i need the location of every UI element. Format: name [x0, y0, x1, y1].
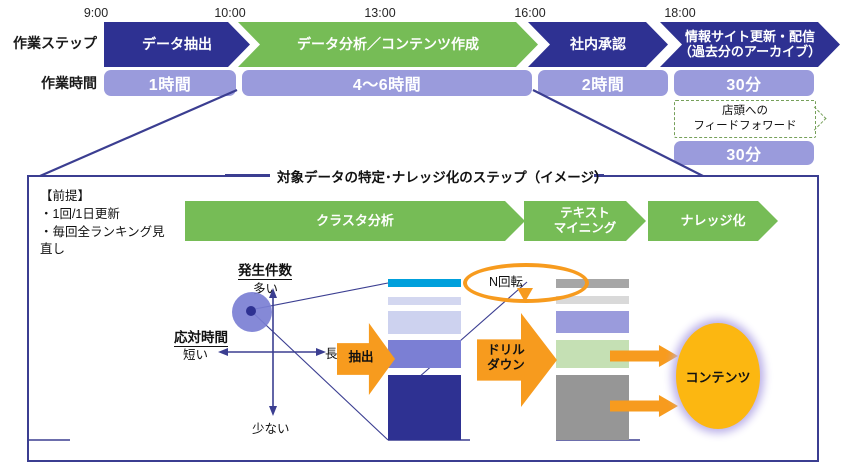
content-ellipse: コンテンツ [676, 323, 760, 429]
